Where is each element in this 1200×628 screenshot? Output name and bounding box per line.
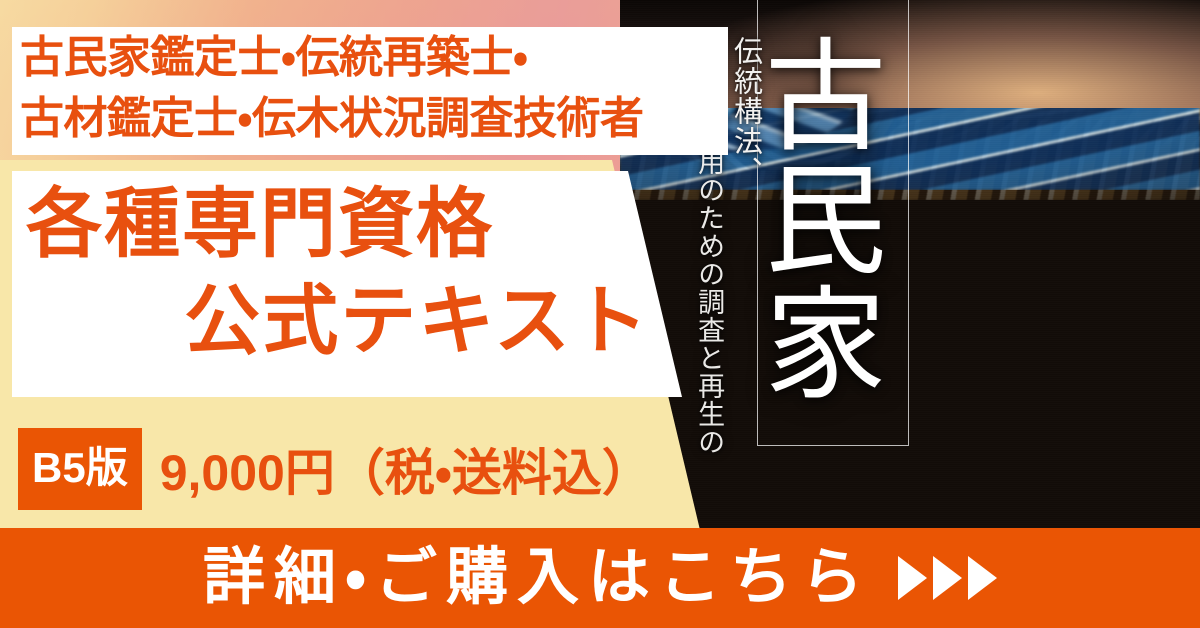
certifications-text: 古民家鑑定士・伝統再築士・ 古材鑑定士・伝木状況調査技術者 [20, 28, 726, 149]
price-row: B5版 9,000円（税・送料込） [18, 428, 652, 510]
play-arrow-icon [933, 556, 962, 600]
headline-line-2: 公式テキスト [18, 273, 668, 370]
play-arrow-icon [968, 556, 997, 600]
cta-arrows [898, 556, 997, 600]
cta-label: 詳細・ご購入はこちら [203, 547, 872, 609]
purchase-cta-button[interactable]: 詳細・ご購入はこちら [0, 528, 1200, 628]
headline-line-1: 各種専門資格 [18, 176, 668, 273]
promo-banner: 伝統構法、 古民家活用のための調査と再生の 古民家 古民家鑑定士・伝統再築士・ … [0, 0, 1200, 628]
certifications-line-2: 古材鑑定士・伝木状況調査技術者 [20, 89, 726, 150]
play-arrow-icon [898, 556, 927, 600]
page-title: 各種専門資格 公式テキスト [18, 176, 668, 371]
price-amount: 9,000円（税・送料込） [160, 433, 652, 505]
book-cover-title: 古民家 [760, 8, 880, 428]
format-badge: B5版 [18, 428, 142, 510]
certifications-line-1: 古民家鑑定士・伝統再築士・ [20, 28, 726, 89]
